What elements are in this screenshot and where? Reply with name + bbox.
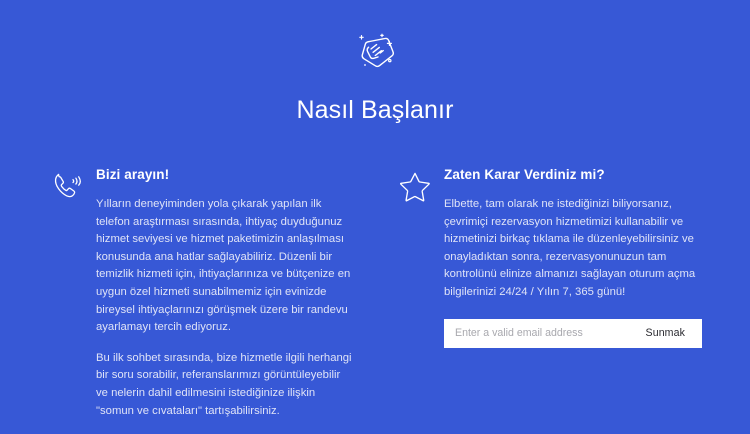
column-title-call-us: Bizi arayın! <box>96 166 354 183</box>
sparkle-cleaning-hand-icon <box>349 27 401 79</box>
column-already-decided: Zaten Karar Verdiniz mi? Elbette, tam ol… <box>398 166 702 420</box>
subscribe-form: Sunmak <box>444 319 702 348</box>
hero-section: Nasıl Başlanır <box>0 0 750 125</box>
email-input[interactable] <box>444 319 634 348</box>
page-root: Nasıl Başlanır Bizi arayın! Yılların den… <box>0 0 750 434</box>
column-call-us: Bizi arayın! Yılların deneyiminden yola … <box>50 166 354 420</box>
column-body: Bizi arayın! Yılların deneyiminden yola … <box>96 166 354 420</box>
column-paragraph: Bu ilk sohbet sırasında, bize hizmetle i… <box>96 350 354 420</box>
column-paragraph: Elbette, tam olarak ne istediğinizi bili… <box>444 196 702 302</box>
column-body: Zaten Karar Verdiniz mi? Elbette, tam ol… <box>444 166 702 348</box>
phone-ringing-icon <box>50 166 96 203</box>
star-outline-icon <box>398 166 444 203</box>
page-title: Nasıl Başlanır <box>0 95 750 125</box>
column-title-already-decided: Zaten Karar Verdiniz mi? <box>444 166 702 183</box>
content-columns: Bizi arayın! Yılların deneyiminden yola … <box>0 166 750 420</box>
column-paragraph: Yılların deneyiminden yola çıkarak yapıl… <box>96 196 354 337</box>
submit-button[interactable]: Sunmak <box>634 319 702 348</box>
